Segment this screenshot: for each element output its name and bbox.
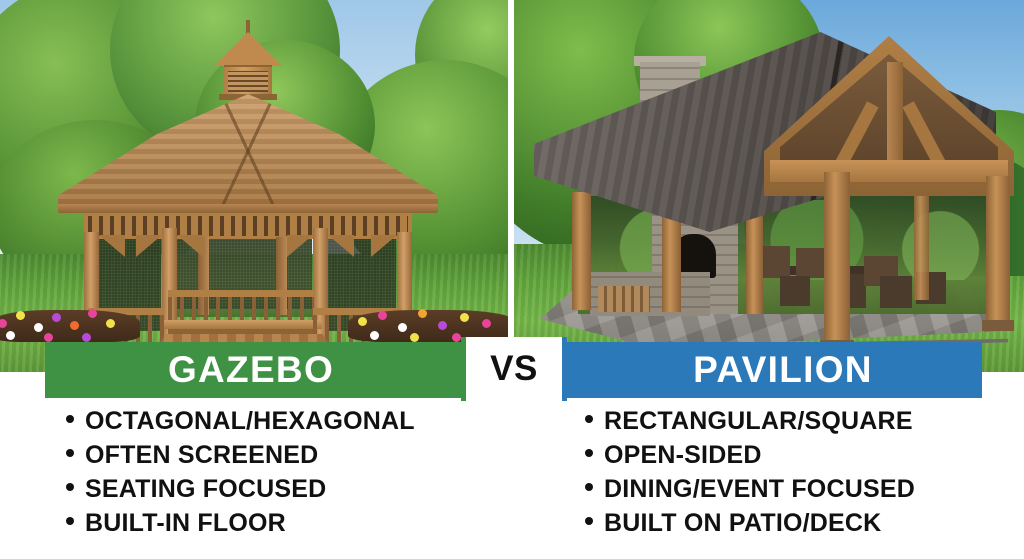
flower (410, 333, 419, 342)
front-post (986, 176, 1010, 324)
gable-truss (764, 36, 1014, 196)
bullet-icon (585, 483, 593, 491)
feature-text: RECTANGULAR/SQUARE (604, 404, 913, 438)
list-item: BUILT-IN FLOOR (66, 506, 506, 540)
feature-text: BUILT-IN FLOOR (85, 506, 286, 540)
flower (370, 331, 379, 340)
photo-row (0, 0, 1024, 372)
flower (418, 309, 427, 318)
pavilion-title-banner: PAVILION (512, 342, 982, 398)
bullet-icon (585, 415, 593, 423)
railing-rail (168, 290, 314, 297)
bullet-icon (585, 517, 593, 525)
bullet-icon (66, 483, 74, 491)
pavilion-photo (514, 0, 1024, 372)
flower (452, 333, 461, 342)
roof-hip-ridges (58, 94, 438, 212)
flower (34, 323, 43, 332)
feature-text: SEATING FOCUSED (85, 472, 326, 506)
flower (482, 319, 491, 328)
list-item: OCTAGONAL/HEXAGONAL (66, 404, 506, 438)
list-item: DINING/EVENT FOCUSED (585, 472, 1015, 506)
flower (88, 309, 97, 318)
flower (460, 313, 469, 322)
bullet-icon (66, 449, 74, 457)
gazebo-photo (0, 0, 508, 372)
feature-lists: OCTAGONAL/HEXAGONAL OFTEN SCREENED SEATI… (0, 404, 1024, 559)
flower (358, 317, 367, 326)
list-item: SEATING FOCUSED (66, 472, 506, 506)
list-item: OFTEN SCREENED (66, 438, 506, 472)
flower (438, 321, 447, 330)
rear-post (572, 192, 591, 310)
frieze-lattice (84, 213, 412, 239)
flower (82, 333, 91, 342)
flower (70, 321, 79, 330)
bullet-icon (66, 415, 74, 423)
flower (106, 319, 115, 328)
shingle-roof (58, 94, 438, 212)
feature-text: OCTAGONAL/HEXAGONAL (85, 404, 415, 438)
gazebo-feature-column: OCTAGONAL/HEXAGONAL OFTEN SCREENED SEATI… (66, 404, 506, 540)
cupola-roof (214, 32, 282, 66)
bullet-icon (585, 449, 593, 457)
king-post (887, 62, 903, 170)
bullet-icon (66, 517, 74, 525)
pavilion-feature-list: RECTANGULAR/SQUARE OPEN-SIDED DINING/EVE… (585, 404, 1015, 540)
vs-label: VS (490, 349, 538, 389)
gazebo-feature-list: OCTAGONAL/HEXAGONAL OFTEN SCREENED SEATI… (66, 404, 506, 540)
feature-text: OFTEN SCREENED (85, 438, 318, 472)
patio-chair (780, 276, 810, 306)
firewood-stack (598, 286, 650, 312)
roof-eave (58, 204, 438, 213)
feature-text: BUILT ON PATIO/DECK (604, 506, 881, 540)
flower (398, 323, 407, 332)
list-item: RECTANGULAR/SQUARE (585, 404, 1015, 438)
post-base (982, 320, 1014, 331)
tie-beam (770, 160, 1008, 182)
built-in-bench (162, 320, 322, 329)
vs-badge: VS (461, 337, 567, 401)
pavilion-structure (534, 24, 1014, 354)
flower (6, 331, 15, 340)
flower (378, 311, 387, 320)
list-item: BUILT ON PATIO/DECK (585, 506, 1015, 540)
pavilion-title: PAVILION (621, 349, 873, 391)
list-item: OPEN-SIDED (585, 438, 1015, 472)
rear-post (914, 180, 929, 300)
gazebo-title: GAZEBO (168, 349, 392, 391)
flower (52, 313, 61, 322)
gazebo-vs-pavilion-infographic: GAZEBO PAVILION VS OCTAGONAL/HEXAGONAL O… (0, 0, 1024, 559)
pavilion-feature-column: RECTANGULAR/SQUARE OPEN-SIDED DINING/EVE… (585, 404, 1015, 540)
flower (44, 333, 53, 342)
flower (16, 311, 25, 320)
photo-divider (508, 0, 514, 372)
gazebo-title-banner: GAZEBO (45, 342, 515, 398)
feature-text: OPEN-SIDED (604, 438, 762, 472)
gazebo-structure (58, 32, 438, 332)
feature-text: DINING/EVENT FOCUSED (604, 472, 915, 506)
cupola (224, 65, 272, 95)
front-post (824, 172, 850, 344)
patio-chair (880, 276, 912, 308)
